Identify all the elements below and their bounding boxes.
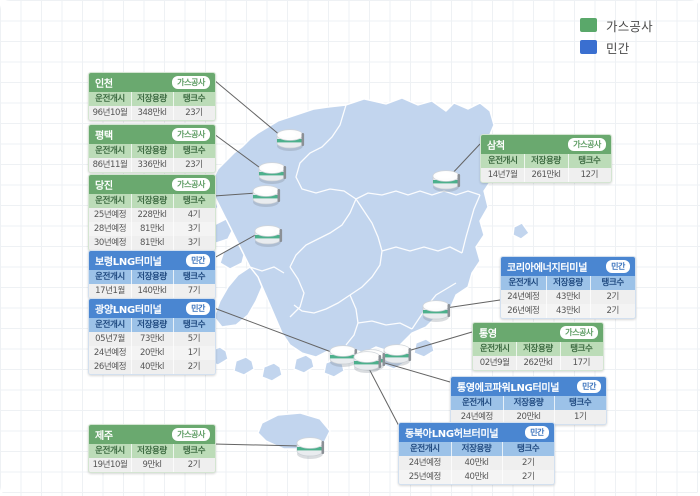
- card-row: 25년예정40만kl2기: [399, 470, 554, 484]
- card-header-dongbuka-hub: 동북아LNG허브터미널민간: [399, 423, 554, 442]
- card-cell-0: 96년10월: [89, 106, 131, 120]
- card-column-header-1: 저장용량: [131, 318, 173, 332]
- card-column-header-2: 탱크수: [590, 276, 635, 290]
- card-header-gwangyang: 광양LNG터미널민간: [89, 299, 215, 318]
- card-column-header-1: 저장용량: [503, 396, 555, 410]
- card-cell-2: 23기: [173, 106, 215, 120]
- card-header-incheon: 인천가스공사: [89, 73, 215, 92]
- card-cell-2: 3기: [173, 236, 215, 250]
- card-cell-2: 12기: [568, 168, 611, 182]
- card-row: 28년예정81만kl3기: [89, 222, 215, 236]
- card-cell-0: 25년예정: [89, 208, 131, 222]
- card-column-headers-incheon: 운전개시저장용량탱크수: [89, 92, 215, 106]
- card-row: 24년예정43만kl2기: [501, 290, 635, 304]
- card-cell-0: 86년11월: [89, 158, 131, 172]
- card-column-headers-korea-energy: 운전개시저장용량탱크수: [501, 276, 635, 290]
- card-cell-0: 24년예정: [89, 346, 131, 360]
- card-title-boryeong: 보령LNG터미널: [95, 253, 162, 268]
- card-column-header-1: 저장용량: [516, 342, 559, 356]
- card-title-samcheok: 삼척: [487, 137, 505, 152]
- card-cell-1: 140만kl: [131, 284, 173, 298]
- tank-marker-boryeong[interactable]: [252, 222, 286, 250]
- card-column-header-1: 저장용량: [131, 194, 173, 208]
- card-cell-2: 23기: [173, 158, 215, 172]
- terminal-card-samcheok[interactable]: 삼척가스공사운전개시저장용량탱크수14년7월261만kl12기: [480, 134, 612, 183]
- card-column-header-2: 탱크수: [560, 342, 603, 356]
- tank-marker-incheon[interactable]: [274, 126, 308, 154]
- card-column-header-1: 저장용량: [451, 442, 503, 456]
- card-row: 96년10월348만kl23기: [89, 106, 215, 120]
- card-column-headers-boryeong: 운전개시저장용량탱크수: [89, 270, 215, 284]
- card-column-header-0: 운전개시: [501, 276, 546, 290]
- card-cell-1: 43만kl: [546, 290, 591, 304]
- card-column-header-1: 저장용량: [546, 276, 591, 290]
- card-cell-1: 81만kl: [131, 236, 173, 250]
- card-cell-2: 3기: [173, 222, 215, 236]
- card-cell-0: 19년10월: [89, 458, 131, 472]
- card-title-korea-energy: 코리아에너지터미널: [507, 259, 587, 274]
- card-operator-tag-korea-energy: 민간: [605, 259, 631, 274]
- card-cell-0: 26년예정: [89, 360, 131, 374]
- card-cell-1: 40만kl: [451, 470, 503, 484]
- card-title-jeju: 제주: [95, 427, 113, 442]
- card-column-header-0: 운전개시: [473, 342, 516, 356]
- card-cell-0: 17년1월: [89, 284, 131, 298]
- card-title-tongyeong-ecopower: 통영에코파워LNG터미널: [457, 379, 559, 394]
- card-cell-1: 40만kl: [451, 456, 503, 470]
- card-column-headers-samcheok: 운전개시저장용량탱크수: [481, 154, 611, 168]
- tank-marker-jeju[interactable]: [294, 434, 328, 462]
- card-operator-tag-pyeongtaek: 가스공사: [171, 127, 211, 142]
- card-operator-tag-jeju: 가스공사: [171, 427, 211, 442]
- card-header-tongyeong: 통영가스공사: [473, 323, 603, 342]
- card-cell-0: 14년7월: [481, 168, 524, 182]
- card-column-header-2: 탱크수: [173, 144, 215, 158]
- card-column-headers-jeju: 운전개시저장용량탱크수: [89, 444, 215, 458]
- card-operator-tag-dangjin: 가스공사: [171, 177, 211, 192]
- card-column-header-0: 운전개시: [89, 318, 131, 332]
- lng-terminal-map-infographic: 가스공사 민간 인천가스공사운전개시저장용량탱크수96년10월348만kl23기…: [0, 0, 700, 496]
- card-title-incheon: 인천: [95, 75, 113, 90]
- card-column-header-0: 운전개시: [89, 194, 131, 208]
- card-title-gwangyang: 광양LNG터미널: [95, 301, 162, 316]
- card-column-header-2: 탱크수: [173, 444, 215, 458]
- card-column-headers-dongbuka-hub: 운전개시저장용량탱크수: [399, 442, 554, 456]
- card-cell-2: 2기: [173, 458, 215, 472]
- card-cell-2: 2기: [502, 456, 554, 470]
- card-cell-1: 261만kl: [524, 168, 567, 182]
- card-operator-tag-incheon: 가스공사: [171, 75, 211, 90]
- card-row: 24년예정20만kl1기: [89, 346, 215, 360]
- card-operator-tag-gwangyang: 민간: [185, 301, 211, 316]
- legend-label-private: 민간: [606, 38, 629, 57]
- card-title-dangjin: 당진: [95, 177, 113, 192]
- card-operator-tag-tongyeong-ecopower: 민간: [576, 379, 602, 394]
- card-column-headers-pyeongtaek: 운전개시저장용량탱크수: [89, 144, 215, 158]
- card-column-header-0: 운전개시: [451, 396, 503, 410]
- card-cell-0: 28년예정: [89, 222, 131, 236]
- card-row: 26년예정43만kl2기: [501, 304, 635, 318]
- card-cell-0: 30년예정: [89, 236, 131, 250]
- card-operator-tag-samcheok: 가스공사: [567, 137, 607, 152]
- card-title-tongyeong: 통영: [479, 325, 497, 340]
- card-header-jeju: 제주가스공사: [89, 425, 215, 444]
- card-cell-2: 5기: [173, 332, 215, 346]
- card-column-header-0: 운전개시: [89, 444, 131, 458]
- tank-marker-dangjin[interactable]: [250, 182, 284, 210]
- card-column-headers-dangjin: 운전개시저장용량탱크수: [89, 194, 215, 208]
- card-operator-tag-dongbuka-hub: 민간: [524, 425, 550, 440]
- tank-marker-dongbuka-hub[interactable]: [351, 348, 385, 376]
- legend-swatch-private: [580, 40, 597, 54]
- card-operator-tag-boryeong: 민간: [185, 253, 211, 268]
- terminal-card-pyeongtaek[interactable]: 평택가스공사운전개시저장용량탱크수86년11월336만kl23기: [88, 124, 216, 173]
- card-column-header-2: 탱크수: [502, 442, 554, 456]
- card-operator-tag-tongyeong: 가스공사: [559, 325, 599, 340]
- card-cell-1: 81만kl: [131, 222, 173, 236]
- card-column-header-0: 운전개시: [89, 92, 131, 106]
- card-cell-2: 1기: [173, 346, 215, 360]
- card-column-header-0: 운전개시: [89, 144, 131, 158]
- card-cell-2: 2기: [590, 304, 635, 318]
- map-island-ulleung: [513, 223, 529, 239]
- card-row: 19년10월9만kl2기: [89, 458, 215, 472]
- card-cell-0: 24년예정: [501, 290, 546, 304]
- card-cell-0: 26년예정: [501, 304, 546, 318]
- legend-item-public: 가스공사: [580, 14, 653, 36]
- card-column-header-2: 탱크수: [554, 396, 606, 410]
- card-row: 05년7월73만kl5기: [89, 332, 215, 346]
- map-southwest-peninsula: [214, 267, 262, 327]
- card-cell-0: 02년9월: [473, 356, 516, 370]
- card-cell-2: 7기: [173, 284, 215, 298]
- legend: 가스공사 민간: [580, 14, 653, 58]
- card-title-pyeongtaek: 평택: [95, 127, 113, 142]
- card-column-header-0: 운전개시: [89, 270, 131, 284]
- card-cell-1: 228만kl: [131, 208, 173, 222]
- card-column-header-0: 운전개시: [481, 154, 524, 168]
- terminal-card-boryeong[interactable]: 보령LNG터미널민간운전개시저장용량탱크수17년1월140만kl7기: [88, 250, 216, 299]
- card-row: 02년9월262만kl17기: [473, 356, 603, 370]
- card-header-boryeong: 보령LNG터미널민간: [89, 251, 215, 270]
- card-header-samcheok: 삼척가스공사: [481, 135, 611, 154]
- tank-marker-korea-energy[interactable]: [420, 297, 454, 325]
- card-column-header-1: 저장용량: [131, 144, 173, 158]
- card-column-header-1: 저장용량: [524, 154, 567, 168]
- card-cell-2: 2기: [502, 470, 554, 484]
- legend-item-private: 민간: [580, 36, 653, 58]
- map-west-coast-3: [220, 243, 244, 269]
- terminal-card-tongyeong[interactable]: 통영가스공사운전개시저장용량탱크수02년9월262만kl17기: [472, 322, 604, 371]
- card-cell-0: 24년예정: [399, 456, 451, 470]
- card-header-korea-energy: 코리아에너지터미널민간: [501, 257, 635, 276]
- card-cell-0: 05년7월: [89, 332, 131, 346]
- card-header-pyeongtaek: 평택가스공사: [89, 125, 215, 144]
- card-cell-1: 9만kl: [131, 458, 173, 472]
- tank-marker-samcheok[interactable]: [430, 167, 464, 195]
- card-column-header-0: 운전개시: [399, 442, 451, 456]
- card-row: 14년7월261만kl12기: [481, 168, 611, 182]
- card-column-header-2: 탱크수: [173, 318, 215, 332]
- map-island-9: [414, 339, 434, 357]
- terminal-card-dongbuka-hub[interactable]: 동북아LNG허브터미널민간운전개시저장용량탱크수24년예정40만kl2기25년예…: [398, 422, 555, 485]
- card-cell-1: 348만kl: [131, 106, 173, 120]
- map-island-3: [234, 357, 254, 375]
- card-header-tongyeong-ecopower: 통영에코파워LNG터미널민간: [451, 377, 606, 396]
- map-island-5: [294, 355, 314, 373]
- card-cell-2: 1기: [554, 410, 606, 424]
- legend-swatch-public: [580, 18, 597, 32]
- card-column-header-2: 탱크수: [173, 92, 215, 106]
- card-cell-2: 2기: [173, 360, 215, 374]
- card-cell-1: 43만kl: [546, 304, 591, 318]
- card-column-headers-gwangyang: 운전개시저장용량탱크수: [89, 318, 215, 332]
- card-cell-1: 262만kl: [516, 356, 559, 370]
- card-column-header-2: 탱크수: [173, 270, 215, 284]
- card-column-header-1: 저장용량: [131, 92, 173, 106]
- card-title-dongbuka-hub: 동북아LNG허브터미널: [405, 425, 498, 440]
- card-column-headers-tongyeong-ecopower: 운전개시저장용량탱크수: [451, 396, 606, 410]
- card-row: 25년예정228만kl4기: [89, 208, 215, 222]
- terminal-card-jeju[interactable]: 제주가스공사운전개시저장용량탱크수19년10월9만kl2기: [88, 424, 216, 473]
- card-cell-0: 25년예정: [399, 470, 451, 484]
- card-cell-1: 336만kl: [131, 158, 173, 172]
- legend-label-public: 가스공사: [606, 16, 653, 35]
- card-row: 17년1월140만kl7기: [89, 284, 215, 298]
- card-cell-2: 2기: [590, 290, 635, 304]
- card-cell-1: 20만kl: [131, 346, 173, 360]
- card-column-header-2: 탱크수: [173, 194, 215, 208]
- card-cell-2: 4기: [173, 208, 215, 222]
- map-island-4: [262, 363, 282, 381]
- terminal-card-gwangyang[interactable]: 광양LNG터미널민간운전개시저장용량탱크수05년7월73만kl5기24년예정20…: [88, 298, 216, 375]
- card-column-header-1: 저장용량: [131, 444, 173, 458]
- terminal-card-dangjin[interactable]: 당진가스공사운전개시저장용량탱크수25년예정228만kl4기28년예정81만kl…: [88, 174, 216, 251]
- card-row: 26년예정40만kl2기: [89, 360, 215, 374]
- card-header-dangjin: 당진가스공사: [89, 175, 215, 194]
- terminal-card-korea-energy[interactable]: 코리아에너지터미널민간운전개시저장용량탱크수24년예정43만kl2기26년예정4…: [500, 256, 636, 319]
- card-cell-1: 73만kl: [131, 332, 173, 346]
- terminal-card-tongyeong-ecopower[interactable]: 통영에코파워LNG터미널민간운전개시저장용량탱크수24년예정20만kl1기: [450, 376, 607, 425]
- card-cell-2: 17기: [560, 356, 603, 370]
- card-column-header-1: 저장용량: [131, 270, 173, 284]
- card-row: 86년11월336만kl23기: [89, 158, 215, 172]
- card-cell-1: 40만kl: [131, 360, 173, 374]
- card-column-header-2: 탱크수: [568, 154, 611, 168]
- card-row: 24년예정40만kl2기: [399, 456, 554, 470]
- card-column-headers-tongyeong: 운전개시저장용량탱크수: [473, 342, 603, 356]
- terminal-card-incheon[interactable]: 인천가스공사운전개시저장용량탱크수96년10월348만kl23기: [88, 72, 216, 121]
- card-row: 30년예정81만kl3기: [89, 236, 215, 250]
